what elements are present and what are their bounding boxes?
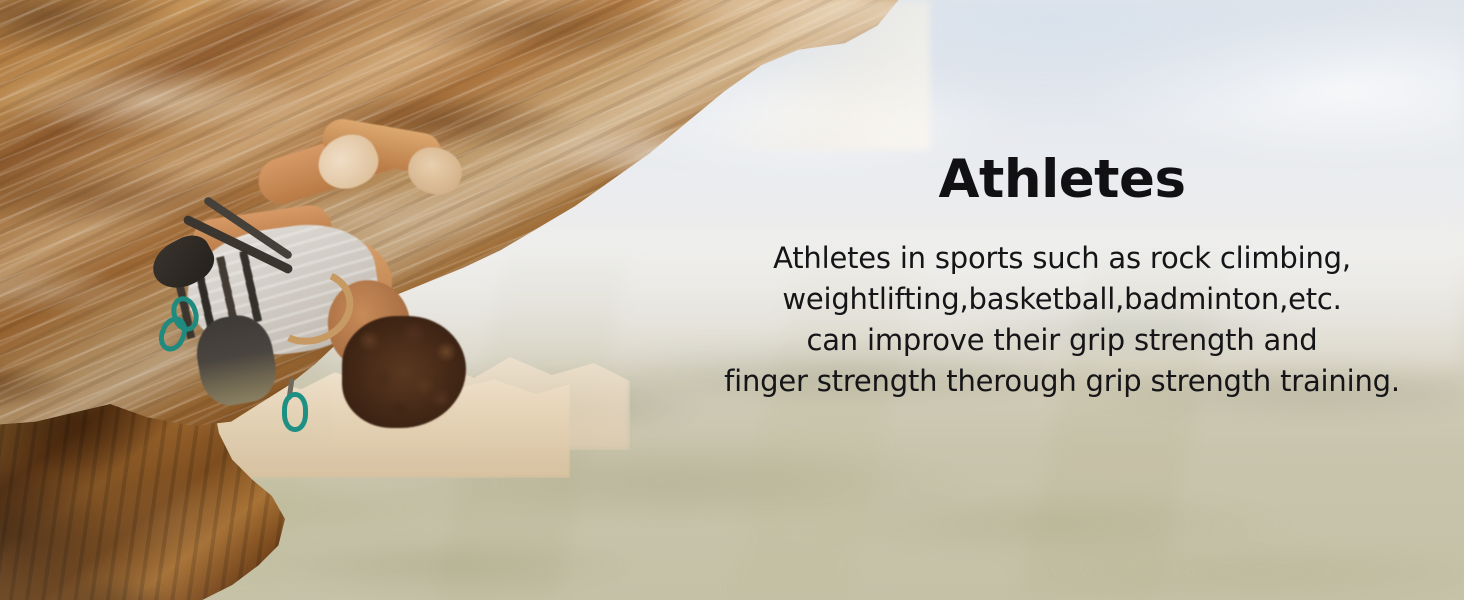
banner-description: Athletes in sports such as rock climbing… bbox=[724, 208, 1400, 402]
page-title: Athletes bbox=[938, 152, 1185, 208]
description-line-3: can improve their grip strength and bbox=[724, 320, 1400, 361]
description-line-1: Athletes in sports such as rock climbing… bbox=[724, 238, 1400, 279]
climber-curly-hair bbox=[342, 316, 466, 428]
banner-content: Athletes Athletes in sports such as rock… bbox=[660, 0, 1464, 600]
quickdraw-carabiner bbox=[282, 392, 308, 432]
hero-banner: Athletes Athletes in sports such as rock… bbox=[0, 0, 1464, 600]
description-line-4: finger strength therough grip strength t… bbox=[724, 361, 1400, 402]
description-line-2: weightlifting,basketball,badminton,etc. bbox=[724, 279, 1400, 320]
rock-climber bbox=[60, 120, 480, 450]
